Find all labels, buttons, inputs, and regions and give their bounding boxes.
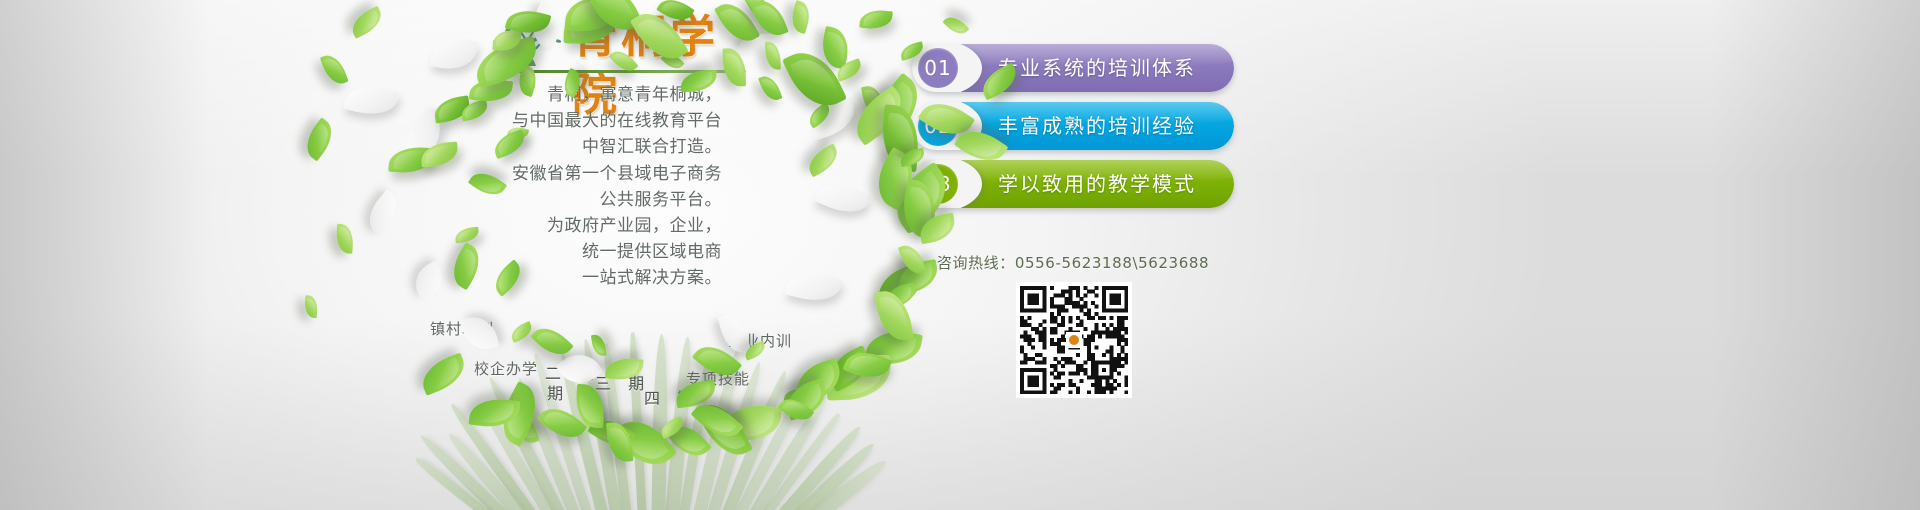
leaf bbox=[788, 0, 814, 34]
feature-item-03[interactable]: 03 学以致用的教学模式 bbox=[912, 160, 1234, 208]
leaf bbox=[942, 12, 969, 39]
leaf bbox=[320, 51, 349, 88]
leaf bbox=[303, 295, 318, 318]
label-school-enterprise: 校企办学 bbox=[474, 358, 538, 379]
leaf bbox=[430, 35, 479, 75]
leaf bbox=[765, 42, 781, 70]
feature-item-01[interactable]: 01 专业系统的培训体系 bbox=[912, 44, 1234, 92]
description-line: 为政府产业园，企业， bbox=[360, 213, 722, 239]
promo-banner: 青桐学院 青桐，寓意青年桐城，与中国最大的在线教育平台中智汇联合打造。安徽省第一… bbox=[0, 0, 1920, 510]
brand-description: 青桐，寓意青年桐城，与中国最大的在线教育平台中智汇联合打造。安徽省第一个县域电子… bbox=[360, 82, 722, 292]
feature-label: 学以致用的教学模式 bbox=[998, 160, 1196, 208]
hotline-text: 咨询热线：0556-5623188\5623688 bbox=[912, 252, 1234, 273]
leaf bbox=[784, 267, 842, 307]
leaf bbox=[416, 352, 470, 395]
qr-code[interactable] bbox=[1016, 282, 1132, 398]
description-line: 青桐，寓意青年桐城， bbox=[360, 82, 722, 108]
leaf bbox=[859, 9, 892, 31]
leaf bbox=[804, 143, 844, 177]
leaf bbox=[814, 175, 872, 221]
description-line: 一站式解决方案。 bbox=[360, 265, 722, 291]
leaf bbox=[758, 73, 782, 103]
leaf bbox=[298, 117, 340, 161]
feature-label: 丰富成熟的培训经验 bbox=[998, 102, 1196, 150]
leaf bbox=[335, 224, 354, 254]
feature-number: 01 bbox=[918, 48, 958, 88]
leaf bbox=[508, 321, 535, 343]
description-line: 统一提供区域电商 bbox=[360, 239, 722, 265]
leaf bbox=[591, 333, 607, 356]
qr-code-image bbox=[1020, 286, 1128, 394]
description-line: 公共服务平台。 bbox=[360, 187, 722, 213]
leaf bbox=[347, 6, 386, 39]
feature-label: 专业系统的培训体系 bbox=[998, 44, 1196, 92]
